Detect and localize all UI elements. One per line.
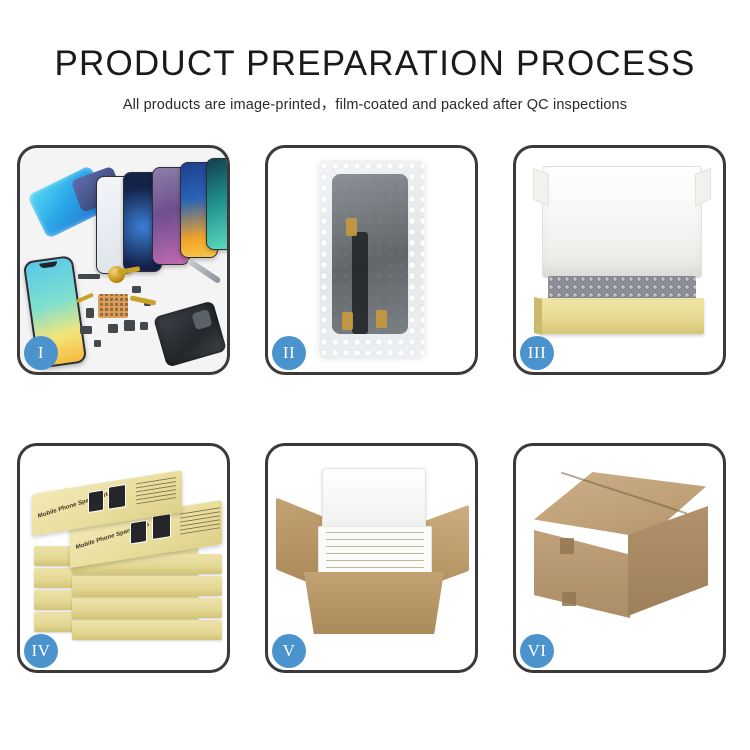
gold-connector-icon	[376, 310, 387, 328]
packed-inner-boxes-icon	[326, 532, 424, 568]
step-badge-4: IV	[24, 634, 58, 668]
wrapped-screen-icon	[332, 174, 408, 334]
process-step-grid: I II III	[17, 145, 727, 673]
step-3-illustration: III	[516, 148, 723, 372]
box-spec-lines	[180, 506, 220, 534]
step-6-illustration: VI	[516, 446, 723, 670]
product-preparation-infographic: PRODUCT PREPARATION PROCESS All products…	[0, 0, 750, 750]
step-badge-3: III	[520, 336, 554, 370]
step-5-illustration: V	[268, 446, 475, 670]
process-step-panel-4: Mobile Phone Spare Parts Mobile Phone Sp…	[17, 443, 230, 673]
step-badge-5: V	[272, 634, 306, 668]
stacked-box	[72, 620, 222, 640]
box-phone-image	[130, 520, 147, 545]
part-chip-icon	[132, 286, 141, 293]
phone-lineup	[94, 158, 227, 280]
wrapped-flex-cable-icon	[352, 232, 368, 334]
step-2-illustration: II	[268, 148, 475, 372]
box-phone-image	[88, 489, 104, 513]
carton-tape-patch	[562, 592, 576, 606]
bubble-wrap-bag-icon	[320, 162, 424, 358]
flex-cable-icon	[76, 293, 94, 304]
gold-connector-icon	[342, 312, 353, 330]
part-chip-icon	[108, 324, 118, 333]
part-chip-icon	[86, 308, 94, 318]
part-chip-icon	[124, 320, 135, 331]
carton-tape-patch	[560, 538, 574, 554]
step-4-illustration: Mobile Phone Spare Parts Mobile Phone Sp…	[20, 446, 227, 670]
header: PRODUCT PREPARATION PROCESS All products…	[0, 0, 750, 114]
page-subtitle: All products are image-printed，film-coat…	[0, 93, 750, 114]
carton-left-face	[534, 530, 630, 618]
foam-box-lid-icon	[322, 468, 426, 530]
stacked-box	[72, 576, 222, 596]
process-step-panel-3: III	[513, 145, 726, 375]
flex-cable-icon	[130, 295, 156, 305]
process-step-panel-2: II	[265, 145, 478, 375]
carton-front-panel	[304, 572, 444, 634]
inner-box-stack: Mobile Phone Spare Parts Mobile Phone Sp…	[28, 464, 224, 654]
phone-chassis-icon	[153, 300, 227, 367]
gold-connector-icon	[346, 218, 357, 236]
box-phone-image	[152, 513, 171, 540]
kraft-inner-box-icon	[540, 298, 704, 334]
step-1-illustration: I	[20, 148, 227, 372]
stacked-box	[72, 598, 222, 618]
part-chip-icon	[94, 340, 101, 347]
part-chip-icon	[78, 274, 100, 279]
step-badge-1: I	[24, 336, 58, 370]
box-spec-lines	[136, 476, 176, 504]
page-title: PRODUCT PREPARATION PROCESS	[0, 44, 750, 84]
part-chip-icon	[80, 326, 92, 334]
step-badge-2: II	[272, 336, 306, 370]
process-step-panel-1: I	[17, 145, 230, 375]
part-chip-icon	[140, 322, 148, 330]
box-phone-image	[108, 484, 126, 510]
step-badge-6: VI	[520, 634, 554, 668]
foam-sheet-icon	[542, 166, 702, 278]
process-step-panel-5: V	[265, 443, 478, 673]
process-step-panel-6: VI	[513, 443, 726, 673]
copper-shield-grid-icon	[98, 294, 128, 318]
phone-teal-icon	[206, 158, 227, 250]
